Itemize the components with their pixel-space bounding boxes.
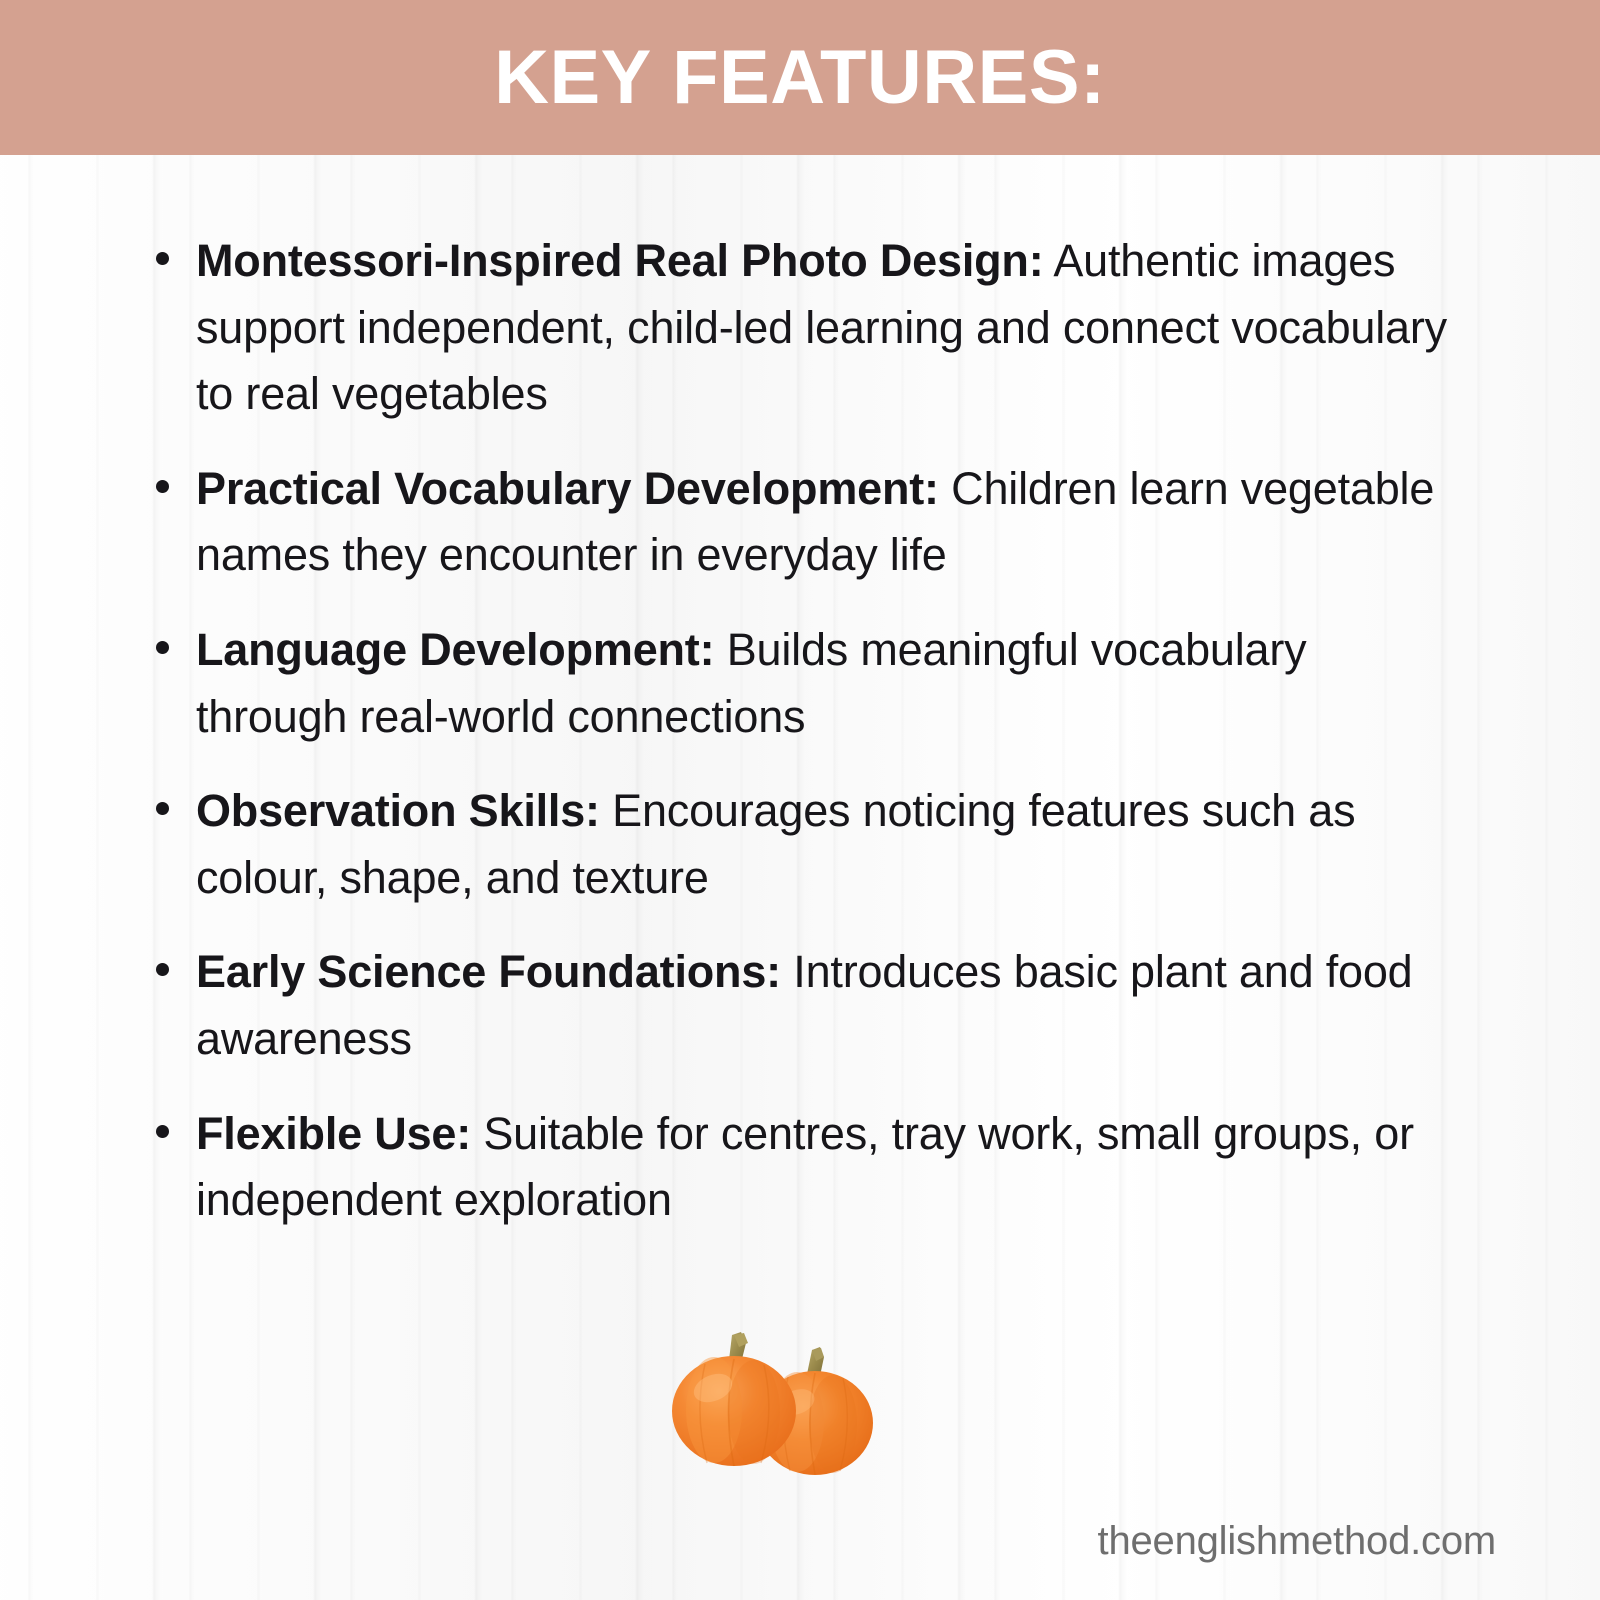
- feature-term: Practical Vocabulary Development:: [196, 463, 939, 514]
- features-list: Montessori-Inspired Real Photo Design: A…: [148, 228, 1468, 1234]
- bullet-dot-icon: [156, 802, 169, 815]
- feature-term: Observation Skills:: [196, 785, 600, 836]
- list-item: Montessori-Inspired Real Photo Design: A…: [148, 228, 1468, 428]
- list-item: Practical Vocabulary Development: Childr…: [148, 456, 1468, 589]
- header-band: KEY FEATURES:: [0, 0, 1600, 155]
- list-item: Observation Skills: Encourages noticing …: [148, 778, 1468, 911]
- list-item: Language Development: Builds meaningful …: [148, 617, 1468, 750]
- feature-term: Flexible Use:: [196, 1108, 471, 1159]
- bullet-dot-icon: [156, 963, 169, 976]
- page-title: KEY FEATURES:: [474, 40, 1126, 116]
- feature-term: Montessori-Inspired Real Photo Design:: [196, 235, 1044, 286]
- pumpkin-left: [672, 1332, 796, 1466]
- pumpkins-image: [655, 1318, 925, 1508]
- feature-term: Early Science Foundations:: [196, 946, 781, 997]
- list-item: Flexible Use: Suitable for centres, tray…: [148, 1101, 1468, 1234]
- key-features-poster: KEY FEATURES: Montessori-Inspired Real P…: [0, 0, 1600, 1600]
- bullet-dot-icon: [156, 641, 169, 654]
- bullet-dot-icon: [156, 252, 169, 265]
- bullet-dot-icon: [156, 1125, 169, 1138]
- feature-term: Language Development:: [196, 624, 714, 675]
- footer-website-url: theenglishmethod.com: [1098, 1519, 1496, 1564]
- bullet-dot-icon: [156, 480, 169, 493]
- list-item: Early Science Foundations: Introduces ba…: [148, 939, 1468, 1072]
